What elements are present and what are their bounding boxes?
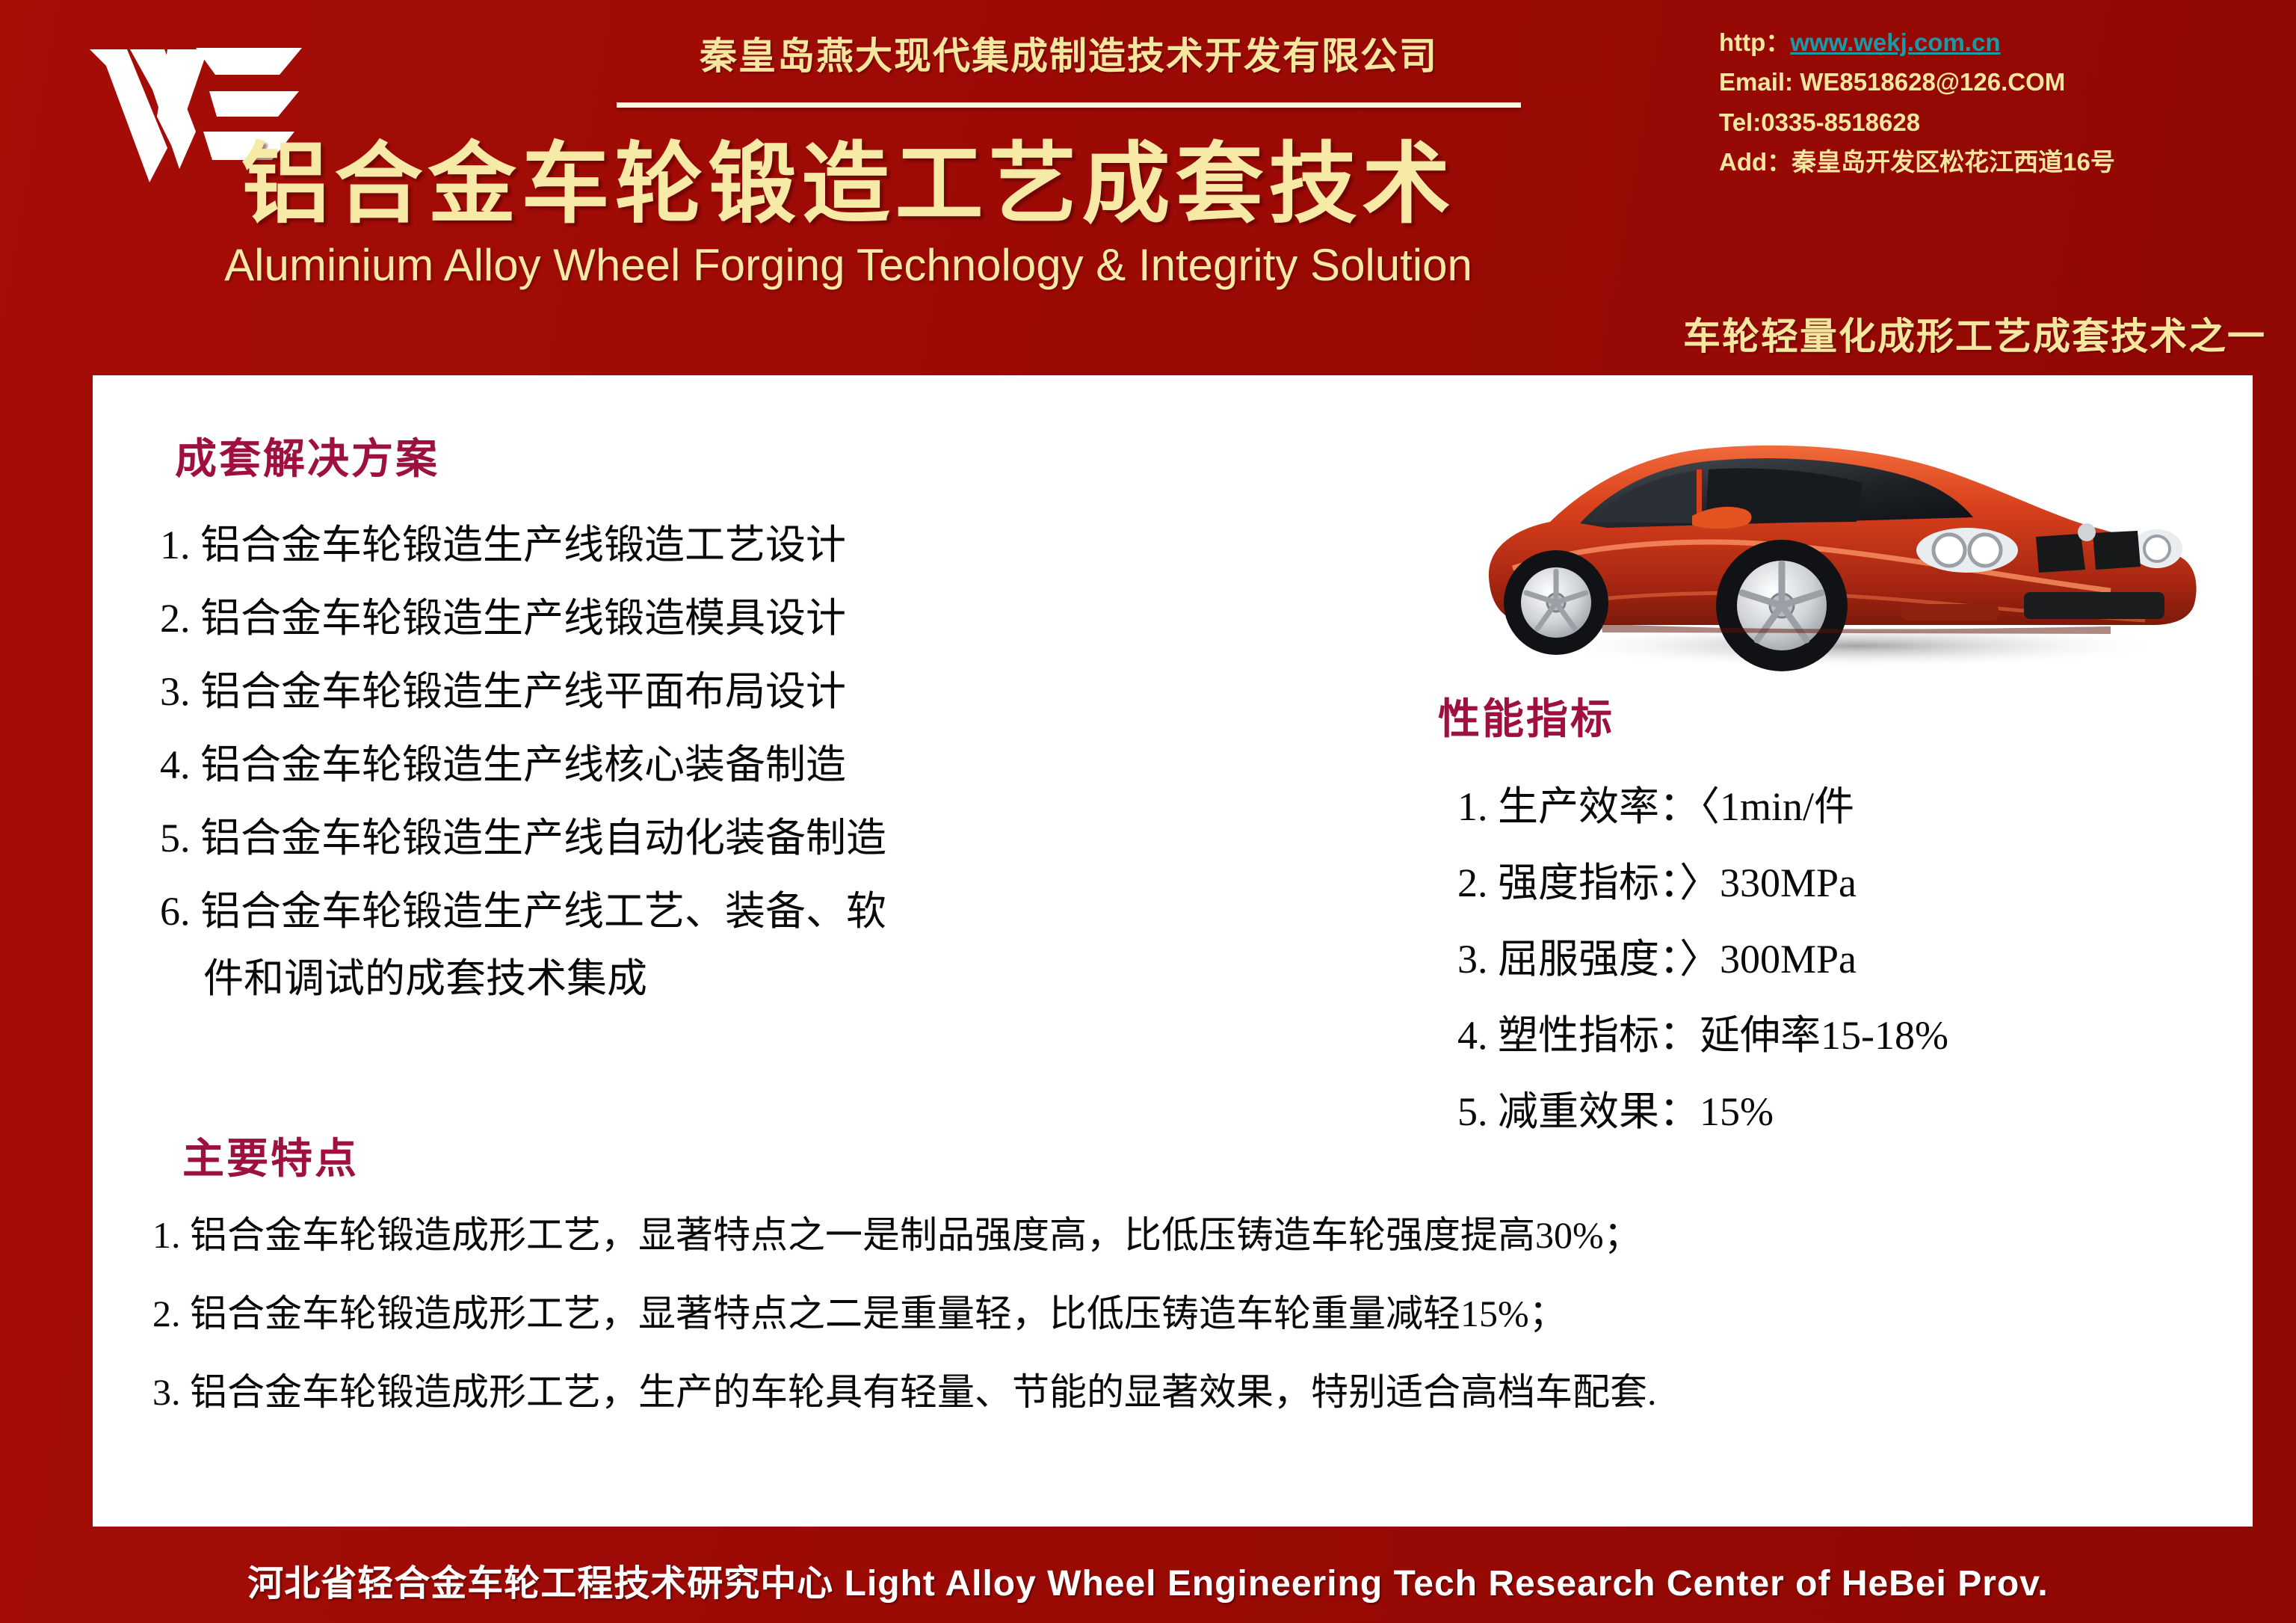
car-photo	[1468, 390, 2215, 682]
list-item: 2. 强度指标：〉330MPa	[1431, 863, 2223, 903]
list-item: 1. 生产效率：〈1min/件	[1431, 786, 2223, 827]
contact-email: Email: WE8518628@126.COM	[1719, 62, 2287, 102]
contact-tel: Tel:0335-8518628	[1719, 102, 2287, 142]
page-footer: 河北省轻合金车轮工程技术研究中心 Light Alloy Wheel Engin…	[0, 1540, 2296, 1623]
list-item: 5. 铝合金车轮锻造生产线自动化装备制造	[160, 818, 1191, 858]
list-item: 3. 铝合金车轮锻造生产线平面布局设计	[160, 671, 1191, 712]
list-item: 1. 铝合金车轮锻造生产线锻造工艺设计	[160, 525, 1191, 565]
list-item: 5. 减重效果：15%	[1431, 1091, 2223, 1132]
list-item: 2. 铝合金车轮锻造生产线锻造模具设计	[160, 598, 1191, 638]
contact-address: Add：秦皇岛开发区松花江西道16号	[1719, 142, 2287, 182]
features-heading: 主要特点	[182, 1138, 359, 1180]
list-item: 2. 铝合金车轮锻造成形工艺，显著特点之二是重量轻，比低压铸造车轮重量减轻15%…	[152, 1295, 2215, 1332]
company-name: 秦皇岛燕大现代集成制造技术开发有限公司	[568, 36, 1570, 77]
list-item: 4. 铝合金车轮锻造生产线核心装备制造	[160, 745, 1191, 785]
solutions-list: 1. 铝合金车轮锻造生产线锻造工艺设计 2. 铝合金车轮锻造生产线锻造模具设计 …	[160, 525, 1191, 1032]
http-label: http：	[1719, 28, 1790, 56]
performance-heading: 性能指标	[1438, 698, 1614, 740]
list-item: 4. 塑性指标：延伸率15-18%	[1431, 1015, 2223, 1056]
list-item: 3. 铝合金车轮锻造成形工艺，生产的车轮具有轻量、节能的显著效果，特别适合高档车…	[152, 1373, 2215, 1411]
page-title: 铝合金车轮锻造工艺成套技术	[0, 141, 1697, 229]
contact-website-row: http：www.wekj.com.cn	[1719, 22, 2287, 62]
footer-text: 河北省轻合金车轮工程技术研究中心 Light Alloy Wheel Engin…	[247, 1553, 2048, 1606]
page-header: 秦皇岛燕大现代集成制造技术开发有限公司 http：www.wekj.com.cn…	[0, 0, 2296, 374]
page-subtitle: Aluminium Alloy Wheel Forging Technology…	[0, 243, 1697, 288]
list-item: 6. 铝合金车轮锻造生产线工艺、装备、软 件和调试的成套技术集成	[160, 891, 1191, 999]
content-panel: 成套解决方案 1. 铝合金车轮锻造生产线锻造工艺设计 2. 铝合金车轮锻造生产线…	[93, 375, 2253, 1527]
performance-list: 1. 生产效率：〈1min/件 2. 强度指标：〉330MPa 3. 屈服强度：…	[1431, 786, 2223, 1168]
list-item: 3. 屈服强度：〉300MPa	[1431, 939, 2223, 979]
header-divider	[617, 102, 1521, 108]
website-link[interactable]: www.wekj.com.cn	[1790, 28, 2000, 56]
contact-block: http：www.wekj.com.cn Email: WE8518628@12…	[1719, 22, 2287, 182]
page-tagline: 车轮轻量化成形工艺成套技术之一	[1683, 307, 2266, 360]
features-list: 1. 铝合金车轮锻造成形工艺，显著特点之一是制品强度高，比低压铸造车轮强度提高3…	[152, 1216, 2215, 1452]
company-name-block: 秦皇岛燕大现代集成制造技术开发有限公司	[568, 36, 1570, 108]
list-item-line1: 6. 铝合金车轮锻造生产线工艺、装备、软	[160, 889, 886, 934]
list-item-line2: 件和调试的成套技术集成	[160, 958, 1191, 999]
solutions-heading: 成套解决方案	[175, 438, 439, 480]
list-item: 1. 铝合金车轮锻造成形工艺，显著特点之一是制品强度高，比低压铸造车轮强度提高3…	[152, 1216, 2215, 1254]
